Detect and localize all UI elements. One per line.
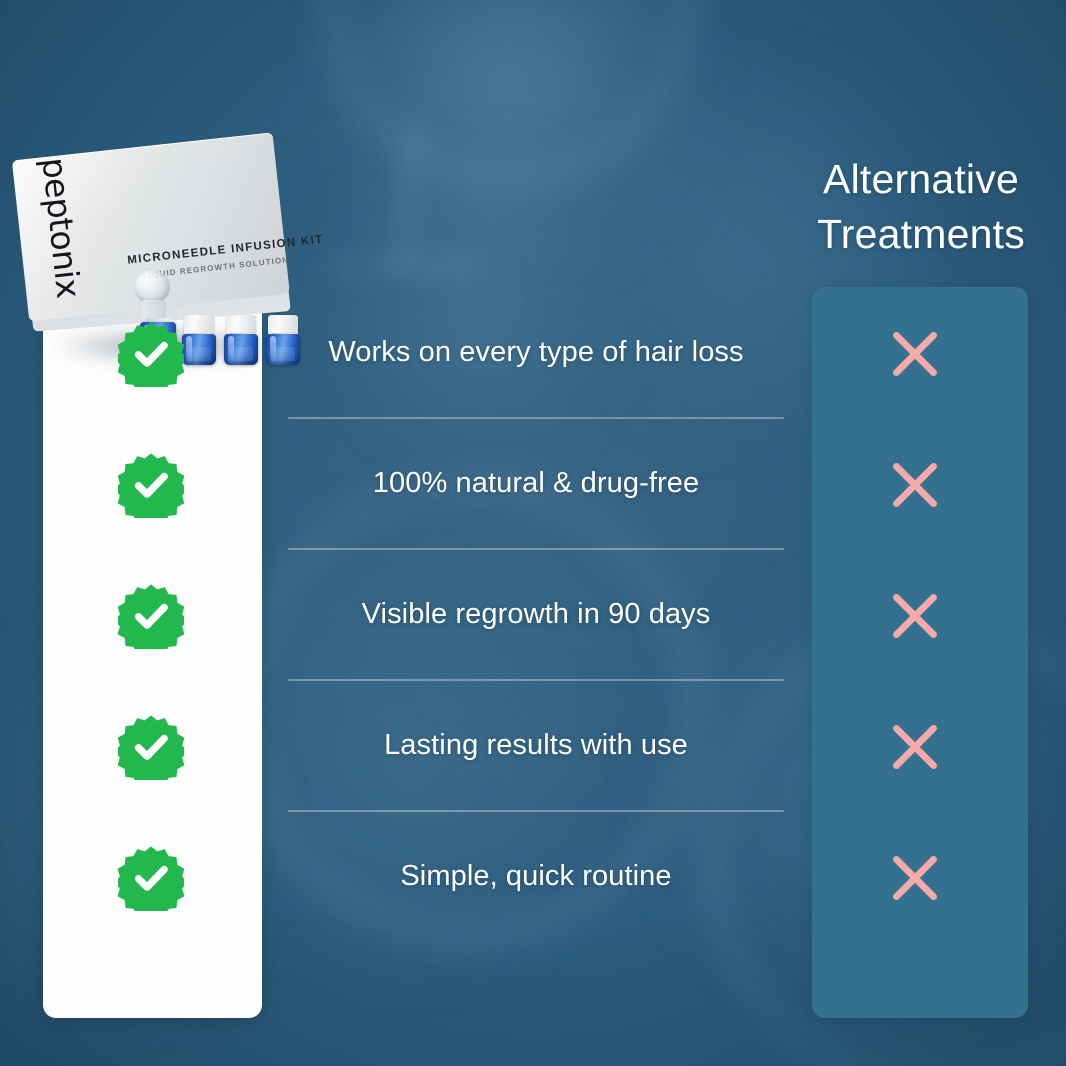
row-label: 100% natural & drug-free xyxy=(288,418,784,549)
comparison-row: 100% natural & drug-free xyxy=(0,418,1066,549)
heading-line-2: Treatments xyxy=(756,207,1066,262)
heading-line-1: Alternative xyxy=(756,152,1066,207)
comparison-row: Simple, quick routine xyxy=(0,811,1066,942)
cross-icon xyxy=(884,323,946,385)
alternative-treatments-heading: Alternative Treatments xyxy=(756,152,1066,262)
comparison-row: Visible regrowth in 90 days xyxy=(0,549,1066,680)
row-label: Lasting results with use xyxy=(288,680,784,811)
row-label: Simple, quick routine xyxy=(288,811,784,942)
check-badge-icon xyxy=(118,452,184,518)
check-badge-icon xyxy=(118,845,184,911)
check-badge-icon xyxy=(118,714,184,780)
check-badge-icon xyxy=(118,583,184,649)
comparison-row: Lasting results with use xyxy=(0,680,1066,811)
cross-icon xyxy=(884,847,946,909)
row-label: Works on every type of hair loss xyxy=(288,287,784,418)
check-badge-icon xyxy=(118,321,184,387)
row-label: Visible regrowth in 90 days xyxy=(288,549,784,680)
cross-icon xyxy=(884,454,946,516)
comparison-rows: Works on every type of hair loss 100% na… xyxy=(0,287,1066,942)
cross-icon xyxy=(884,716,946,778)
cross-icon xyxy=(884,585,946,647)
comparison-row: Works on every type of hair loss xyxy=(0,287,1066,418)
comparison-infographic: Alternative Treatments peptonix MICRONEE… xyxy=(0,0,1066,1066)
